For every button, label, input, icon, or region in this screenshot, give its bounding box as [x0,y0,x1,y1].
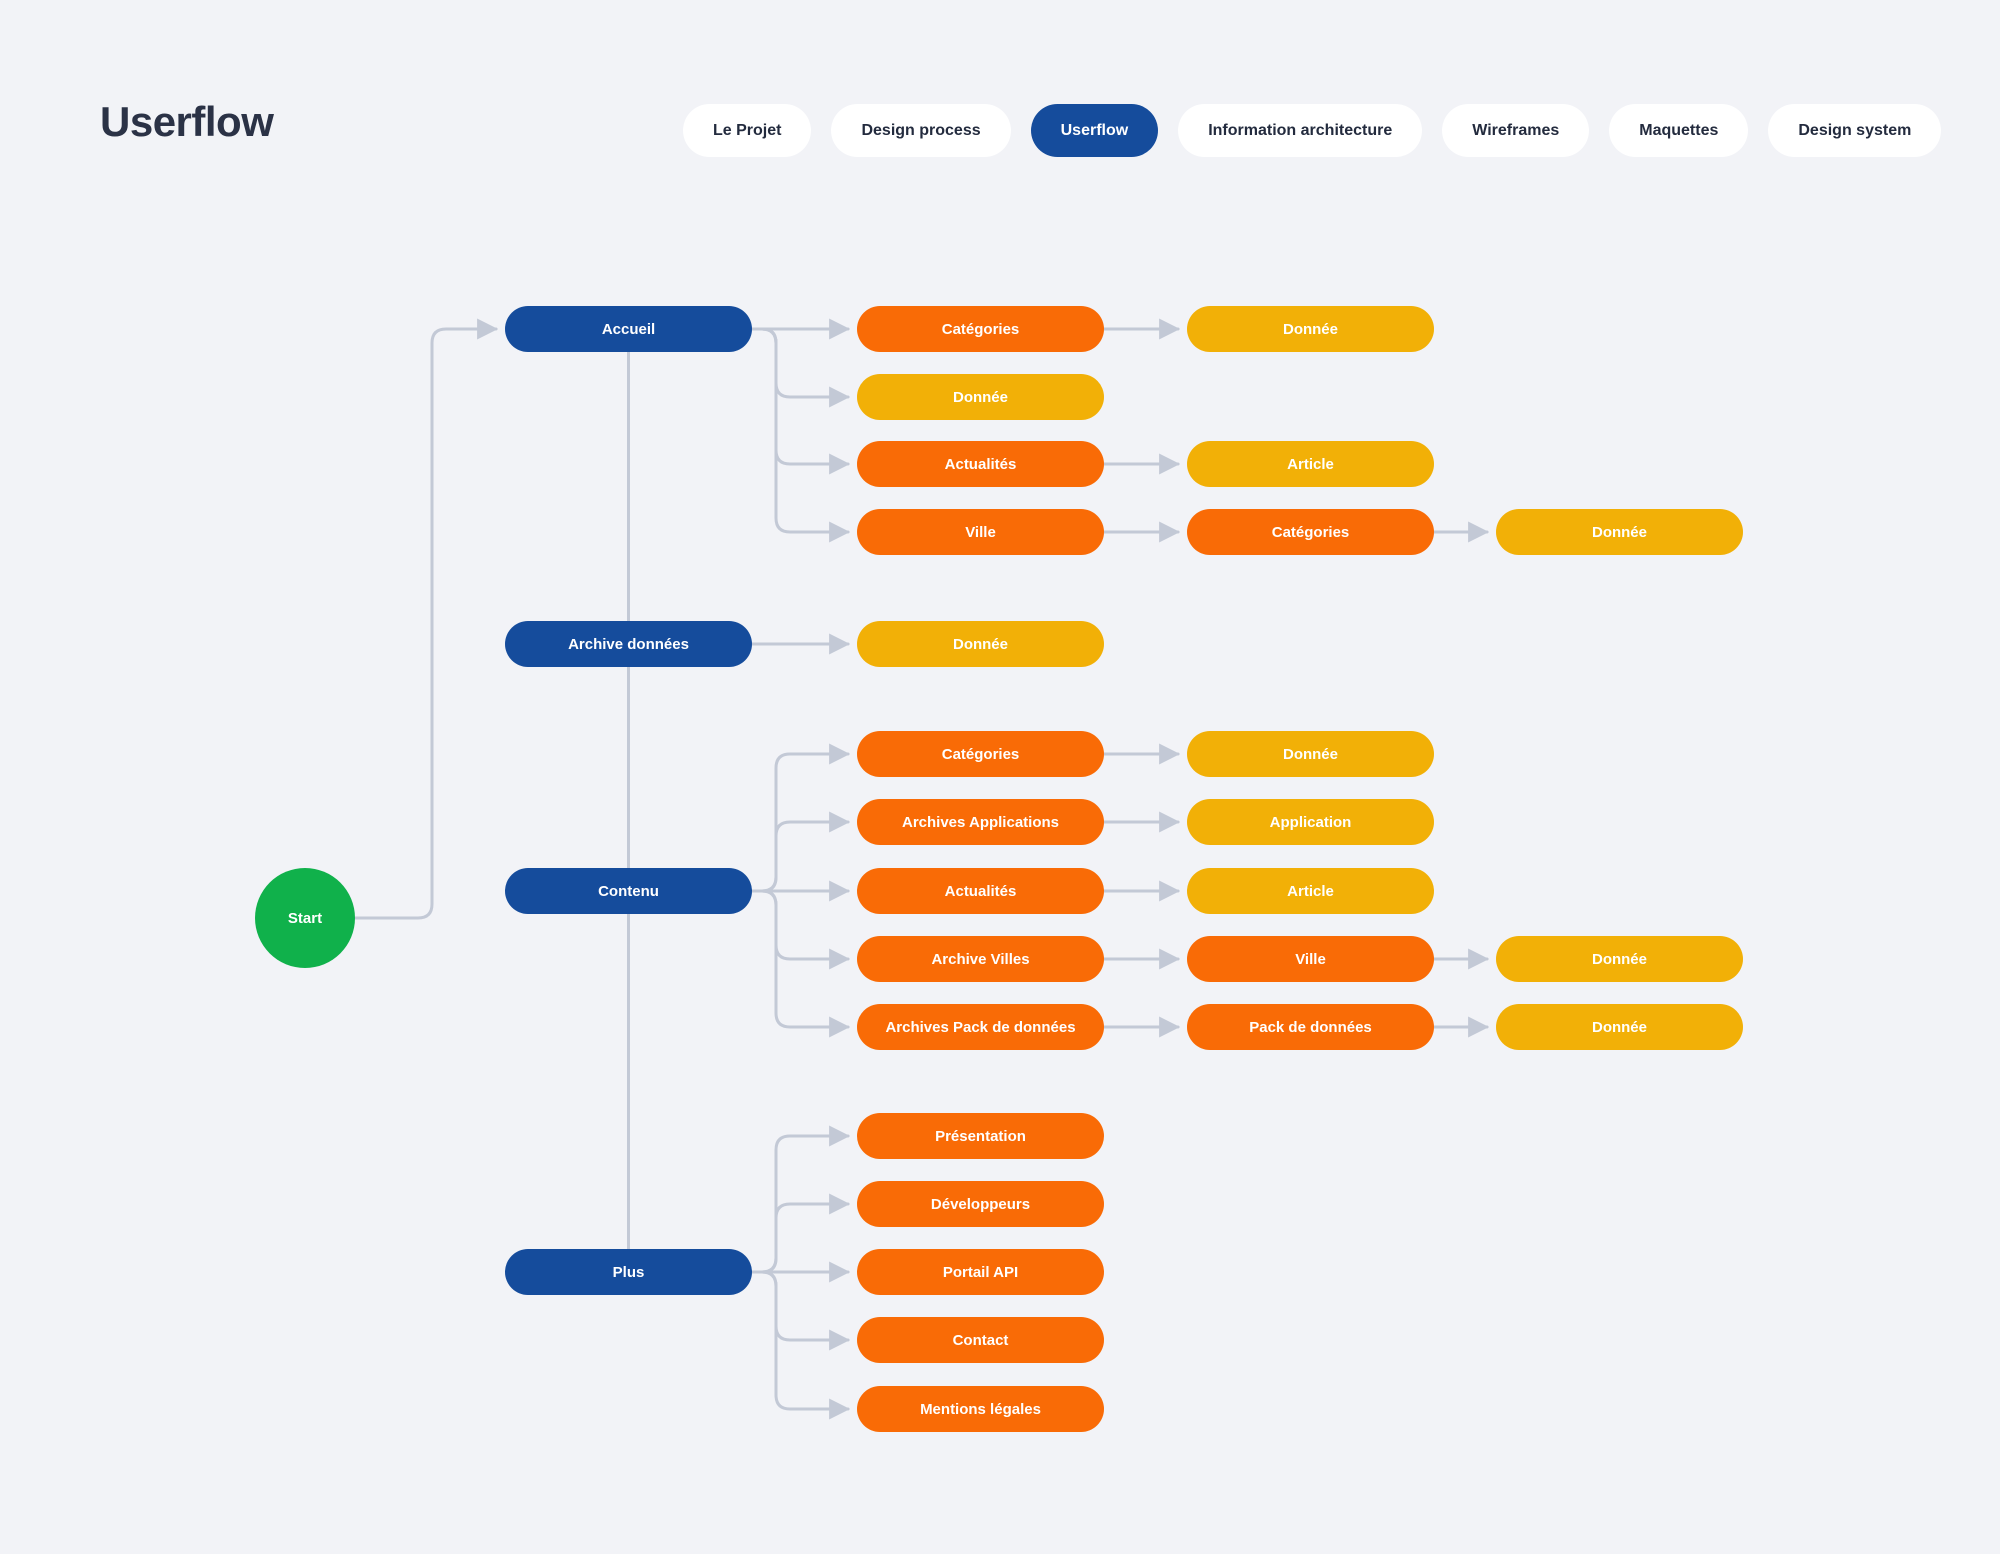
node-contenu[interactable]: Contenu [505,868,752,914]
node-c-ville-donnee[interactable]: Donnée [1496,936,1743,982]
edge-accueil-1 [752,329,848,397]
node-c-arch-villes[interactable]: Archive Villes [857,936,1104,982]
node-c-application[interactable]: Application [1187,799,1434,845]
node-a-ville[interactable]: Ville [857,509,1104,555]
node-a-categories[interactable]: Catégories [857,306,1104,352]
node-a-ville-cat[interactable]: Catégories [1187,509,1434,555]
node-a-article[interactable]: Article [1187,441,1434,487]
edge-accueil-2 [752,329,848,464]
node-c-arch-app[interactable]: Archives Applications [857,799,1104,845]
edge-plus-4 [752,1272,848,1409]
edge-plus-3 [752,1272,848,1340]
edge-contenu-3 [752,891,848,959]
node-c-pack-donnee[interactable]: Donnée [1496,1004,1743,1050]
node-c-article[interactable]: Article [1187,868,1434,914]
node-p-developpeurs[interactable]: Développeurs [857,1181,1104,1227]
edge-contenu-0 [752,754,848,891]
node-start[interactable]: Start [255,868,355,968]
node-p-portail-api[interactable]: Portail API [857,1249,1104,1295]
userflow-diagram: StartAccueilArchive donnéesContenuPlusCa… [0,0,2000,1554]
node-p-contact[interactable]: Contact [857,1317,1104,1363]
edge-plus-1 [752,1204,848,1272]
node-c-actualites[interactable]: Actualités [857,868,1104,914]
node-a-ville-donnee[interactable]: Donnée [1496,509,1743,555]
edge-contenu-1 [752,822,848,891]
node-c-ville[interactable]: Ville [1187,936,1434,982]
node-a-donnee[interactable]: Donnée [857,374,1104,420]
node-c-pack[interactable]: Pack de données [1187,1004,1434,1050]
node-archive-donnees[interactable]: Archive données [505,621,752,667]
node-a-categories-2[interactable]: Donnée [1187,306,1434,352]
edge-start-accueil [355,329,496,918]
node-c-arch-pack[interactable]: Archives Pack de données [857,1004,1104,1050]
node-c-categories[interactable]: Catégories [857,731,1104,777]
node-a-actualites[interactable]: Actualités [857,441,1104,487]
edge-plus-0 [752,1136,848,1272]
edge-accueil-3 [752,329,848,532]
edge-contenu-4 [752,891,848,1027]
node-p-presentation[interactable]: Présentation [857,1113,1104,1159]
node-plus[interactable]: Plus [505,1249,752,1295]
node-p-mentions[interactable]: Mentions légales [857,1386,1104,1432]
node-ad-donnee[interactable]: Donnée [857,621,1104,667]
node-c-donnee[interactable]: Donnée [1187,731,1434,777]
node-accueil[interactable]: Accueil [505,306,752,352]
